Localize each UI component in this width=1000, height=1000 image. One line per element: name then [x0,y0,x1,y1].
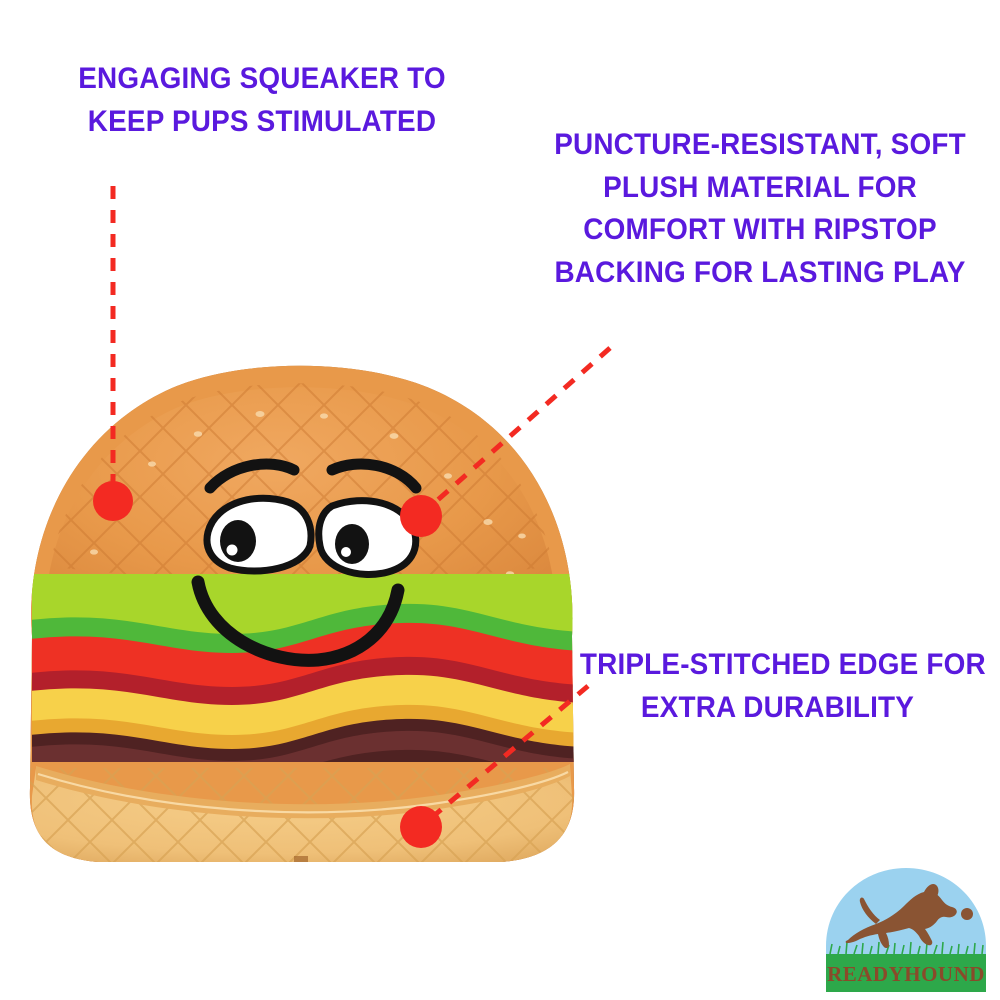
readyhound-logo: READYHOUND [824,866,988,992]
logo-wordmark: READYHOUND [827,962,985,986]
marker-squeaker [93,481,133,521]
callout-squeaker: ENGAGING SQUEAKER TO KEEP PUPS STIMULATE… [67,58,458,143]
callout-stitching: TRIPLE-STITCHED EDGE FOR EXTRA DURABILIT… [580,644,975,729]
callout-squeaker-line-1: ENGAGING SQUEAKER TO [67,58,458,101]
callout-material: PUNCTURE-RESISTANT, SOFT PLUSH MATERIAL … [551,124,970,294]
marker-stitching [400,806,442,848]
callout-stitching-line-1: TRIPLE-STITCHED EDGE FOR [580,644,975,687]
marker-material [400,495,442,537]
leader-line-material [424,348,610,512]
infographic-canvas: ENGAGING SQUEAKER TO KEEP PUPS STIMULATE… [0,0,1000,1000]
callout-material-line-2: PLUSH MATERIAL FOR [551,167,970,210]
logo-ball [961,908,973,920]
callout-material-line-4: BACKING FOR LASTING PLAY [551,252,970,295]
leader-line-stitching [424,686,588,824]
callout-squeaker-line-2: KEEP PUPS STIMULATED [67,101,458,144]
callout-stitching-line-2: EXTRA DURABILITY [580,687,975,730]
callout-material-line-3: COMFORT WITH RIPSTOP [551,209,970,252]
callout-material-line-1: PUNCTURE-RESISTANT, SOFT [551,124,970,167]
